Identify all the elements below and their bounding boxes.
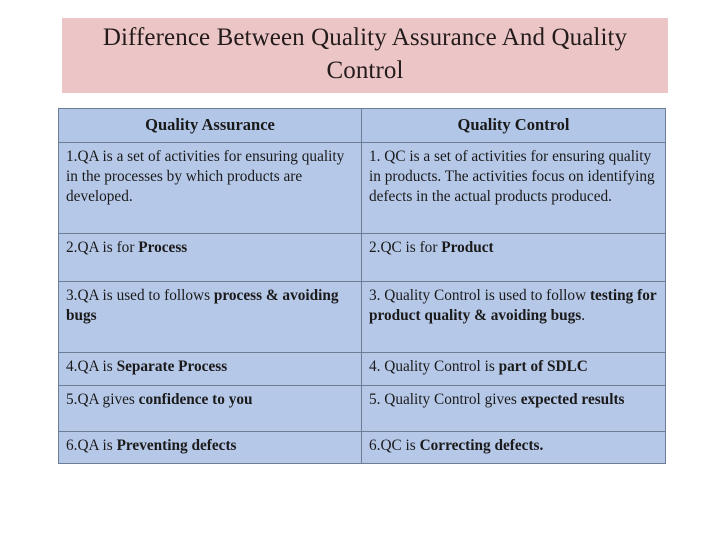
table-row: 3.QA is used to follows process & avoidi… — [59, 282, 666, 353]
page-title: Difference Between Quality Assurance And… — [72, 21, 658, 87]
cell-qa-3: 3.QA is used to follows process & avoidi… — [59, 282, 362, 353]
cell-qc-1: 1. QC is a set of activities for ensurin… — [362, 143, 666, 234]
cell-qc-2: 2.QC is for Product — [362, 234, 666, 282]
cell-qa-4: 4.QA is Separate Process — [59, 353, 362, 386]
cell-qa-2: 2.QA is for Process — [59, 234, 362, 282]
table-header-row: Quality Assurance Quality Control — [59, 109, 666, 143]
cell-qa-1: 1.QA is a set of activities for ensuring… — [59, 143, 362, 234]
table-row: 2.QA is for Process 2.QC is for Product — [59, 234, 666, 282]
table-body: 1.QA is a set of activities for ensuring… — [59, 143, 666, 464]
cell-qc-5: 5. Quality Control gives expected result… — [362, 386, 666, 432]
cell-qa-5: 5.QA gives confidence to you — [59, 386, 362, 432]
table-header: Quality Assurance Quality Control — [59, 109, 666, 143]
column-header-quality-control: Quality Control — [362, 109, 666, 143]
table-row: 5.QA gives confidence to you 5. Quality … — [59, 386, 666, 432]
cell-qc-3: 3. Quality Control is used to follow tes… — [362, 282, 666, 353]
comparison-table: Quality Assurance Quality Control 1.QA i… — [58, 108, 666, 464]
slide-canvas: Difference Between Quality Assurance And… — [0, 0, 720, 539]
cell-qc-4: 4. Quality Control is part of SDLC — [362, 353, 666, 386]
table-row: 1.QA is a set of activities for ensuring… — [59, 143, 666, 234]
title-band: Difference Between Quality Assurance And… — [62, 18, 668, 93]
column-header-quality-assurance: Quality Assurance — [59, 109, 362, 143]
table-row: 4.QA is Separate Process 4. Quality Cont… — [59, 353, 666, 386]
table-row: 6.QA is Preventing defects 6.QC is Corre… — [59, 432, 666, 464]
cell-qc-6: 6.QC is Correcting defects. — [362, 432, 666, 464]
cell-qa-6: 6.QA is Preventing defects — [59, 432, 362, 464]
